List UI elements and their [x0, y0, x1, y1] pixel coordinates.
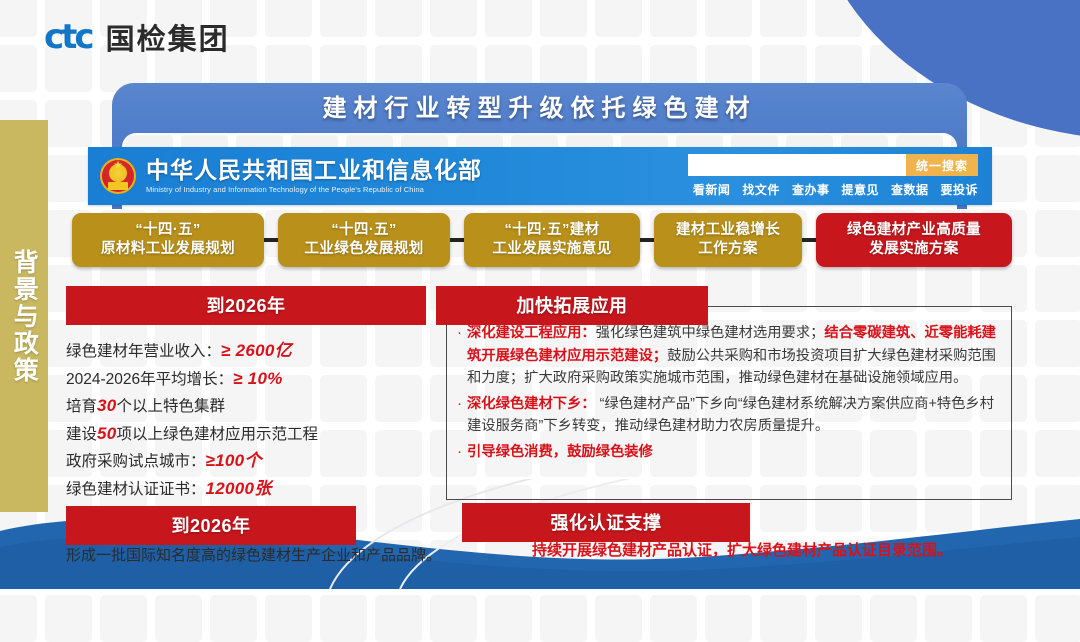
goal-item-4: 建设50项以上绿色建材应用示范工程 — [66, 420, 426, 448]
right-panel-header-2-wrap: 强化认证支撑 — [462, 503, 750, 542]
goal-item-1: 绿色建材年营业收入：≥ 2600亿 — [66, 337, 426, 365]
right-panel-note: 持续开展绿色建材产品认证，扩大绿色建材产品认证目录范围。 — [462, 540, 1022, 561]
policy-button-3[interactable]: “十四·五”建材 工业发展实施意见 — [464, 213, 640, 267]
brand-logo: ctc 国检集团 — [44, 16, 230, 58]
connector-3 — [640, 238, 654, 242]
goal-item-5: 政府采购试点城市：≥100个 — [66, 447, 426, 475]
search-input[interactable] — [688, 154, 906, 176]
goal-value-4: 50 — [97, 424, 117, 443]
ministry-name-en: Ministry of Industry and Information Tec… — [146, 185, 482, 195]
policy-button-2[interactable]: “十四·五” 工业绿色发展规划 — [278, 213, 450, 267]
goal-suffix-4: 项以上绿色建材应用示范工程 — [117, 426, 319, 443]
goal-item-2: 2024-2026年平均增长：≥ 10% — [66, 365, 426, 393]
policy-button-1-line2: 原材料工业发展规划 — [101, 240, 235, 259]
nav-item-feedback[interactable]: 提意见 — [841, 181, 879, 198]
section-sidebar: 背景与政策 — [0, 120, 48, 512]
connector-2 — [450, 238, 464, 242]
bullet-text-3: 引导绿色消费，鼓励绿色装修 — [467, 441, 1008, 464]
left-panel: 到2026年 绿色建材年营业收入：≥ 2600亿 2024-2026年平均增长：… — [66, 286, 426, 502]
logo-mark-ctc: ctc — [44, 17, 92, 57]
goal-label-6: 绿色建材认证证书： — [66, 481, 206, 498]
goal-label-3: 培育 — [66, 398, 97, 415]
policy-button-2-line1: “十四·五” — [331, 221, 396, 240]
policy-button-3-line1: “十四·五”建材 — [504, 221, 599, 240]
goal-value-6: 12000张 — [206, 479, 272, 498]
nav-item-files[interactable]: 找文件 — [742, 181, 780, 198]
policy-button-row: “十四·五” 原材料工业发展规划 “十四·五” 工业绿色发展规划 “十四·五”建… — [72, 212, 1012, 268]
emblem-gate — [108, 182, 128, 190]
bullet-1-seg-2: 强化绿色建筑中绿色建材选用要求； — [596, 325, 825, 341]
bullet-dot-icon: · — [452, 322, 467, 390]
bullet-item-3: · 引导绿色消费，鼓励绿色装修 — [452, 441, 1008, 464]
bullet-2-seg-1: 深化绿色建材下乡： — [467, 396, 596, 412]
goal-label-2: 2024-2026年平均增长： — [66, 371, 233, 388]
goal-value-2: ≥ 10% — [233, 369, 283, 388]
emblem-star: ★ — [113, 160, 123, 171]
policy-button-4-line2: 工作方案 — [698, 240, 758, 259]
goal-label-5: 政府采购试点城市： — [66, 453, 206, 470]
policy-button-5-line2: 发展实施方案 — [869, 240, 958, 259]
goal-label-1: 绿色建材年营业收入： — [66, 343, 221, 360]
logo-text: 国检集团 — [106, 16, 230, 58]
bullet-text-2: 深化绿色建材下乡： “绿色建材产品”下乡向“绿色建材系统解决方案供应商+特色乡村… — [467, 393, 1008, 438]
goal-item-3: 培育30个以上特色集群 — [66, 392, 426, 420]
bullet-item-1: · 深化建设工程应用：强化绿色建筑中绿色建材选用要求；结合零碳建筑、近零能耗建筑… — [452, 322, 1008, 390]
policy-button-5-line1: 绿色建材产业高质量 — [847, 221, 981, 240]
goal-value-3: 30 — [97, 396, 117, 415]
policy-button-4-line1: 建材工业稳增长 — [676, 221, 780, 240]
ministry-utility-area: 统一搜索 看新闻 找文件 查办事 提意见 查数据 要投诉 — [688, 154, 978, 198]
goal-item-6: 绿色建材认证证书：12000张 — [66, 475, 426, 503]
sidebar-label: 背景与政策 — [4, 249, 45, 384]
bullet-text-1: 深化建设工程应用：强化绿色建筑中绿色建材选用要求；结合零碳建筑、近零能耗建筑开展… — [467, 322, 1008, 390]
national-emblem-icon: ★ — [100, 158, 136, 194]
search-button[interactable]: 统一搜索 — [906, 154, 978, 176]
right-panel-header-wrap: 加快拓展应用 — [436, 286, 708, 325]
policy-button-4[interactable]: 建材工业稳增长 工作方案 — [654, 213, 802, 267]
bullet-dot-icon: · — [452, 393, 467, 438]
policy-button-1[interactable]: “十四·五” 原材料工业发展规划 — [72, 213, 264, 267]
search-row: 统一搜索 — [688, 154, 978, 176]
goal-value-5: ≥100个 — [206, 451, 262, 470]
bullet-list: · 深化建设工程应用：强化绿色建筑中绿色建材选用要求；结合零碳建筑、近零能耗建筑… — [452, 322, 1008, 466]
ministry-names: 中华人民共和国工业和信息化部 Ministry of Industry and … — [146, 158, 482, 195]
nav-item-services[interactable]: 查办事 — [792, 181, 830, 198]
goal-list: 绿色建材年营业收入：≥ 2600亿 2024-2026年平均增长：≥ 10% 培… — [66, 337, 426, 502]
connector-4 — [802, 238, 816, 242]
nav-item-data[interactable]: 查数据 — [891, 181, 929, 198]
left-panel-header-2: 到2026年 — [66, 506, 356, 545]
policy-button-3-line2: 工业发展实施意见 — [492, 240, 611, 259]
bullet-1-seg-1: 深化建设工程应用： — [467, 325, 596, 341]
bullet-dot-icon: · — [452, 441, 467, 464]
bullet-3-seg-1: 引导绿色消费，鼓励绿色装修 — [467, 444, 653, 460]
right-panel-header-2: 强化认证支撑 — [462, 503, 750, 542]
policy-button-2-line2: 工业绿色发展规划 — [304, 240, 423, 259]
goal-label-4: 建设 — [66, 426, 97, 443]
ministry-name-cn: 中华人民共和国工业和信息化部 — [146, 158, 482, 183]
ministry-header: ★ 中华人民共和国工业和信息化部 Ministry of Industry an… — [88, 147, 992, 205]
nav-item-complain[interactable]: 要投诉 — [940, 181, 978, 198]
bullet-item-2: · 深化绿色建材下乡： “绿色建材产品”下乡向“绿色建材系统解决方案供应商+特色… — [452, 393, 1008, 438]
connector-1 — [264, 238, 278, 242]
goal-suffix-3: 个以上特色集群 — [117, 398, 226, 415]
goal-value-1: ≥ 2600亿 — [221, 341, 292, 360]
right-panel-header: 加快拓展应用 — [436, 286, 708, 325]
nav-item-news[interactable]: 看新闻 — [693, 181, 731, 198]
left-panel-note: 形成一批国际知名度高的绿色建材生产企业和产品品牌。 — [66, 545, 496, 566]
left-panel-header-2-wrap: 到2026年 — [66, 506, 356, 545]
policy-button-1-line1: “十四·五” — [135, 221, 200, 240]
left-panel-header: 到2026年 — [66, 286, 426, 325]
page-title: 建材行业转型升级依托绿色建材 — [112, 88, 967, 130]
policy-button-5[interactable]: 绿色建材产业高质量 发展实施方案 — [816, 213, 1012, 267]
ministry-nav: 看新闻 找文件 查办事 提意见 查数据 要投诉 — [688, 181, 978, 198]
